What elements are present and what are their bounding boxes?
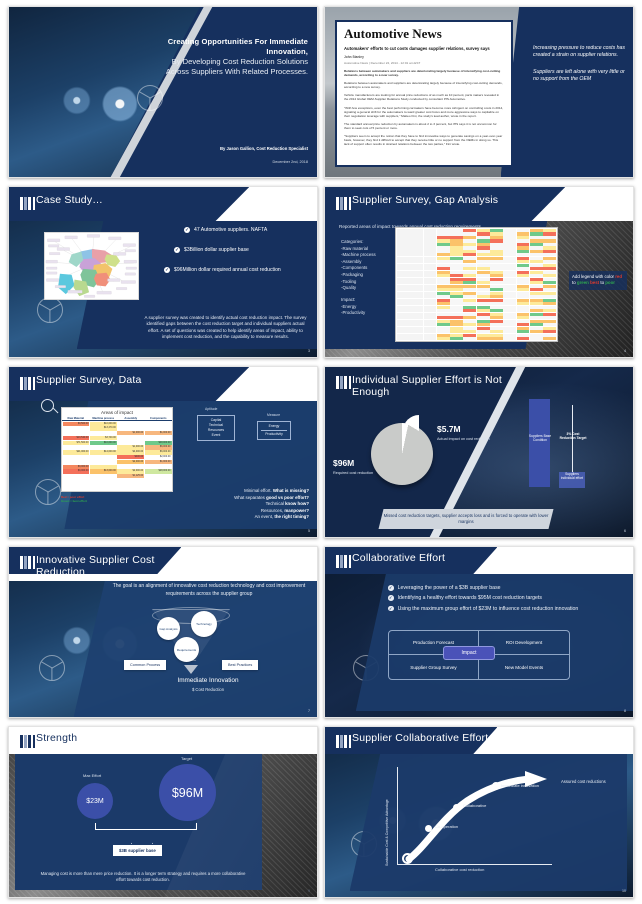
question-lead: What separates (234, 495, 266, 500)
header-bars-icon (20, 377, 35, 390)
pie-exploded-slice (403, 415, 435, 447)
list-item: ✓ Identifying a healthy effort towards $… (388, 595, 623, 602)
common-process-tag: Common Process (124, 660, 166, 670)
header-bars-icon (20, 735, 35, 748)
page-number: 10 (622, 889, 626, 893)
slide-innovative-reduction[interactable]: Innovative Supplier Cost Reduction The g… (8, 546, 318, 718)
slide-supplier-collaborative[interactable]: Supplier Collaborative Effort Sustainabl… (324, 726, 634, 898)
table-legend: Red = poor effort Green = best effort (61, 495, 87, 503)
question-emph: What is missing? (273, 488, 309, 493)
strength-footer: Managing cost is more than mere price re… (39, 871, 247, 883)
question-emph: good vs poor effort? (266, 495, 309, 500)
curve-point-3 (492, 782, 500, 790)
page-title: Strength (36, 732, 77, 744)
mercedes-star-icon (37, 297, 63, 323)
point-label-immediate-innovation: Immediate innovation (501, 783, 541, 788)
point-label-collaborative: Collaborative (463, 803, 486, 808)
slide-strength[interactable]: Strength Max Effort $23M Target $96M $3B… (8, 726, 318, 898)
question-item: Resources, manpower? (159, 508, 309, 515)
list-item: ✓ Leveraging the power of a $3B supplier… (388, 585, 623, 592)
assured-reductions-label: Assured cost reductions (561, 779, 619, 785)
gap-analysis-spreadsheet (395, 227, 558, 342)
x-axis-label: Collaborative cost reduction (435, 867, 484, 872)
legend-red: red (615, 274, 622, 279)
measure-item: Energy (261, 424, 287, 429)
header-bars-icon (336, 555, 351, 568)
legend-best: best (590, 280, 599, 285)
circle-requirements: Requirements (174, 637, 199, 662)
banner-text: Missed cost reduction targets, supplier … (383, 513, 549, 525)
news-paragraph: Vehicle manufacturers are looking for an… (344, 93, 504, 101)
question-lead: Resources, (261, 508, 284, 513)
bullet-label: Identifying a healthy effort towards $95… (398, 595, 542, 602)
bullet-label: $3Billion dollar supplier base (184, 247, 249, 254)
bullet-label: $96Million dollar required annual cost r… (174, 267, 281, 274)
circle-gap-analysis: Gap Analysis (157, 617, 180, 640)
slide-deck: Creating Opportunities For Immediate Inn… (0, 0, 642, 904)
title-line-rest: By Developing Cost Reduction Solutions A… (148, 57, 308, 78)
circle-label: Technology (196, 622, 212, 626)
goal-text: The goal is an alignment of innovative c… (109, 583, 309, 598)
header-bars-icon (336, 197, 351, 210)
news-masthead: Automotive News (344, 27, 504, 41)
header-bars-icon (336, 376, 351, 389)
actual-caption: Actual impact on cost reduction (437, 437, 490, 442)
list-item: ✓ $3Billion dollar supplier base (174, 247, 309, 254)
mercedes-star-icon (137, 85, 163, 111)
news-clipping: Automotive News Automakers' efforts to c… (335, 20, 513, 167)
news-navy-panel (501, 7, 633, 177)
news-headline: Automakers' efforts to cut costs damages… (344, 46, 504, 51)
required-value: $96M (333, 458, 354, 468)
aptitude-box: Capital Technical Resources Event (197, 415, 235, 441)
check-icon: ✓ (174, 247, 180, 253)
bullet-label: Leveraging the power of a $3B supplier b… (398, 585, 501, 592)
collaborative-bullets: ✓ Leveraging the power of a $3B supplier… (388, 585, 623, 616)
point-label-cooperation: Co-operation (435, 824, 458, 829)
max-effort-label: Max Effort (83, 773, 101, 778)
column-header: Components (145, 416, 173, 421)
page-number: 8 (624, 709, 626, 713)
slide-survey-data[interactable]: Supplier Survey, Data Areas of impact Ra… (8, 366, 318, 538)
question-emph: the right timing? (274, 514, 309, 519)
page-title: Supplier Survey, Data (36, 374, 142, 386)
column-header: Machine process (90, 416, 118, 421)
news-quote-1: Increasing pressure to reduce costs has … (533, 45, 625, 60)
circle-label: Gap Analysis (159, 627, 177, 631)
legend-best: Green = best effort (61, 499, 87, 503)
news-author: John Stanley (344, 55, 504, 59)
title-author: By Jason Gallion, Cost Reduction Special… (138, 146, 308, 151)
bar-label-target: 3% Cost Reduction Target (558, 432, 588, 441)
page-title: Individual Supplier Effort is Not Enough (352, 374, 512, 398)
header-bars-icon (20, 556, 35, 569)
aptitude-label: Aptitude (205, 407, 217, 411)
news-paragraph: Relations between automakers and supplie… (344, 81, 504, 89)
question-item: What separates good vs poor effort? (159, 495, 309, 502)
case-study-bullets: ✓ 47 Automotive suppliers. NAFTA ✓ $3Bil… (184, 227, 309, 287)
check-icon: ✓ (388, 606, 394, 612)
news-paragraph: Relations between automakers and supplie… (344, 69, 504, 77)
required-caption: Required cost reduction (333, 471, 373, 476)
question-lead: Technical (266, 501, 286, 506)
table-title: Areas of impact (62, 408, 172, 416)
page-title: Supplier Survey, Gap Analysis (352, 194, 498, 206)
measure-item: Productivity (261, 430, 287, 437)
list-item: ✓ $96Million dollar required annual cost… (164, 267, 309, 274)
column-header: Assembly (117, 416, 145, 421)
page-number: 9 (308, 889, 310, 893)
usa-supplier-map (44, 232, 139, 300)
bar-label-base: Suppliers Base Condition (528, 434, 552, 443)
column-header: Raw Material (62, 416, 90, 421)
immediate-innovation-label: Immediate Innovation (129, 677, 287, 684)
question-lead: Minimal effort. (244, 488, 273, 493)
news-quotes: Increasing pressure to reduce costs has … (533, 45, 625, 84)
case-study-paragraph: A supplier survey was created to identif… (144, 315, 307, 341)
legend-green: green (577, 280, 589, 285)
check-icon: ✓ (164, 267, 170, 273)
base-condition-bar (529, 399, 550, 487)
areas-of-impact-table: Areas of impact Raw Material Machine pro… (61, 407, 173, 492)
slide-news[interactable]: Automotive News Automakers' efforts to c… (324, 6, 634, 178)
mercedes-star-icon (35, 479, 61, 505)
question-lead: An event, (255, 514, 275, 519)
question-emph: manpower? (284, 508, 309, 513)
target-label: Target (181, 756, 192, 761)
supplier-base-tag: $3B supplier base (113, 845, 162, 856)
impact-center-badge: Impact (443, 646, 495, 660)
measure-box: Energy Productivity (257, 421, 291, 440)
curve-point-1 (425, 825, 432, 832)
legend-poor: poor (605, 280, 615, 285)
mercedes-star-icon (39, 655, 65, 681)
target-line (572, 405, 573, 477)
best-practices-tag: Best Practices (222, 660, 258, 670)
check-icon: ✓ (184, 227, 190, 233)
page-title: Case Study… (36, 194, 103, 206)
news-meta: Automotive News | December 22, 2014 - 12… (344, 61, 504, 65)
curve-point-2 (453, 804, 460, 811)
required-cost-label: $96M Required cost reduction (333, 453, 373, 476)
circle-technology: Technology (191, 611, 217, 637)
table-body: $3,500.00$10,000.00$13,470.00$1,000.00$1… (62, 421, 172, 479)
slide-title[interactable]: Creating Opportunities For Immediate Inn… (8, 6, 318, 178)
bullet-label: Using the maximum group effort of $23M t… (398, 606, 579, 613)
bullet-label: 47 Automotive suppliers. NAFTA (194, 227, 267, 234)
magnifier-icon (41, 399, 54, 412)
down-arrow-icon (184, 665, 198, 674)
page-number: 6 (624, 529, 626, 533)
list-item: ✓ 47 Automotive suppliers. NAFTA (184, 227, 309, 234)
actual-impact-label: $5.7M Actual impact on cost reduction (437, 419, 490, 442)
title-block: Creating Opportunities For Immediate Inn… (148, 37, 308, 78)
page-number: 5 (308, 529, 310, 533)
page-title: Collaborative Effort (352, 552, 445, 564)
table-header-row: Raw Material Machine process Assembly Co… (62, 416, 172, 421)
check-icon: ✓ (388, 585, 394, 591)
page-title: Innovative Supplier Cost Reduction (36, 554, 176, 578)
title-line-bold: Creating Opportunities For Immediate Inn… (148, 37, 308, 57)
news-quote-2: Suppliers are left alone with very littl… (533, 69, 625, 84)
bar-label-individual: Suppliers individual effort (558, 472, 586, 481)
slide-gap-analysis[interactable]: Supplier Survey, Gap Analysis Reported a… (324, 186, 634, 358)
question-emph: know how? (285, 501, 309, 506)
news-paragraph: "Suppliers seem to accept the notion tha… (344, 134, 504, 146)
check-icon: ✓ (388, 595, 394, 601)
aptitude-item: Event (201, 433, 231, 438)
news-paragraph: "With few exceptions, even the best perf… (344, 106, 504, 118)
page-number: 4 (624, 349, 626, 353)
slide-collaborative-effort[interactable]: Collaborative Effort ✓ Leveraging the po… (324, 546, 634, 718)
page-number: 7 (308, 709, 310, 713)
question-item: Minimal effort. What is missing? (159, 488, 309, 495)
balance-beam (95, 823, 197, 830)
list-item: ✓ Using the maximum group effort of $23M… (388, 606, 623, 613)
missed-target-banner: Missed cost reduction targets, supplier … (379, 509, 554, 529)
curve-point-origin (402, 853, 413, 864)
legend-pre: Add legend with color (572, 274, 615, 279)
cost-reduction-label: $ Cost Reduction (129, 687, 287, 692)
growth-curve (397, 767, 557, 867)
question-item: An event, the right timing? (159, 514, 309, 521)
max-effort-circle: $23M (77, 783, 113, 819)
slide-individual-effort[interactable]: Individual Supplier Effort is Not Enough… (324, 366, 634, 538)
measure-label: Measure (267, 413, 280, 417)
legend-note: Add legend with color red to green best … (569, 271, 627, 290)
news-paragraph: The standard annual price reduction by a… (344, 122, 504, 130)
header-bars-icon (336, 735, 351, 748)
page-number: 3 (308, 349, 310, 353)
target-circle: $96M (159, 764, 216, 821)
map-svg (45, 233, 138, 299)
question-item: Technical know how? (159, 501, 309, 508)
actual-value: $5.7M (437, 424, 461, 434)
header-bars-icon (20, 197, 35, 210)
slide-case-study[interactable]: Case Study… (8, 186, 318, 358)
circle-label: Requirements (177, 648, 196, 652)
y-axis-label: Sustainable Cost & Competitive Advantage (385, 771, 389, 866)
survey-questions: Minimal effort. What is missing? What se… (159, 488, 309, 521)
page-title: Supplier Collaborative Effort (352, 732, 488, 744)
spreadsheet-grid (396, 228, 557, 341)
title-date: December 2nd, 2018 (138, 160, 308, 164)
